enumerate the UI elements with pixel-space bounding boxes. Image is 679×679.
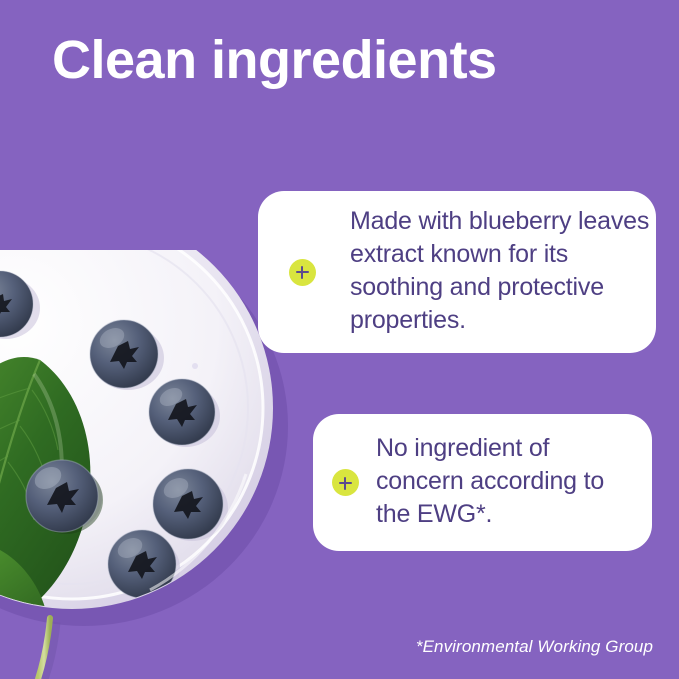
benefit-card-1-text: Made with blueberry leaves extract known… — [350, 205, 650, 337]
clean-ingredients-poster: Clean ingredients — [0, 0, 679, 679]
blueberry — [153, 469, 223, 539]
footnote: *Environmental Working Group — [416, 637, 653, 657]
plus-icon-vertical-bar — [301, 266, 303, 279]
page-title: Clean ingredients — [52, 28, 632, 92]
plus-icon-vertical-bar — [344, 477, 346, 490]
blueberry-petri-dish-photo — [0, 250, 300, 679]
dish-droplet — [192, 363, 198, 369]
blueberry — [149, 379, 215, 445]
benefit-card-2-text: No ingredient of concern according to th… — [376, 432, 641, 531]
plus-icon — [289, 259, 316, 286]
plus-icon — [332, 469, 359, 496]
benefit-card-2: No ingredient of concern according to th… — [313, 414, 652, 551]
blueberry — [90, 320, 158, 388]
benefit-card-1: Made with blueberry leaves extract known… — [258, 191, 656, 353]
blueberry-photo-illustration — [0, 250, 300, 679]
